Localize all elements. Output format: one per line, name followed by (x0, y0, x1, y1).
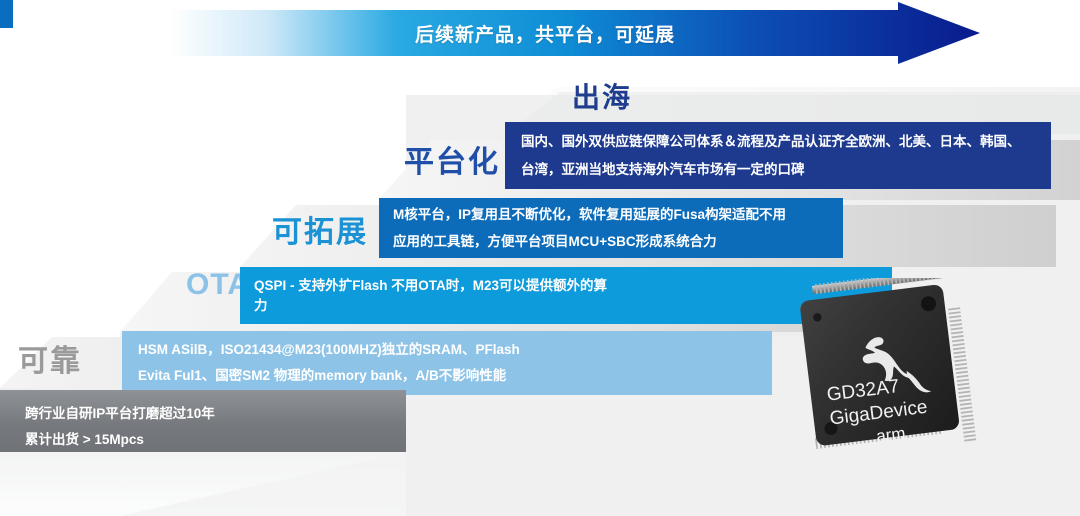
accent-bar (0, 0, 13, 28)
step-content-line: QSPI - 支持外扩Flash 不用OTA时，M23可以提供额外的算 (254, 276, 878, 296)
step-content-line: M核平台，IP复用且不断优化，软件复用延展的Fusa构架适配不用 (393, 201, 829, 228)
step-label-overseas: 出海 (572, 76, 632, 116)
step-content-line: 力 (254, 296, 878, 316)
step-content-platformization: 国内、国外双供应链保障公司体系＆流程及产品认证齐全欧洲、北美、日本、韩国、 台湾… (505, 122, 1051, 189)
step-content-line: 应用的工具链，方便平台项目MCU+SBC形成系统合力 (393, 228, 829, 255)
base-summary-panel: 跨行业自研IP平台打磨超过10年 累计出货 > 15Mpcs (0, 390, 406, 452)
step-label-platformization: 平台化 (404, 137, 500, 181)
chip-image: GD32A7 GigaDevice arm (786, 278, 1026, 493)
slide-canvas: 后续新产品，共平台，可延展 (0, 0, 1080, 516)
step-content-extensible: M核平台，IP复用且不断优化，软件复用延展的Fusa构架适配不用 应用的工具链，… (379, 198, 843, 258)
base-summary-line: 累计出货 > 15Mpcs (25, 427, 406, 453)
step-content-line: HSM ASilB，ISO21434@M23(100MHZ)独立的SRAM、PF… (138, 337, 756, 363)
chip-arch-text: arm (875, 424, 906, 446)
step-label-extensible: 可拓展 (272, 207, 368, 251)
step-label-reliable: 可靠 (18, 336, 82, 380)
step-content-line: 台湾，亚洲当地支持海外汽车市场有一定的口碑 (521, 156, 1035, 184)
base-summary-line: 跨行业自研IP平台打磨超过10年 (25, 401, 406, 427)
step-content-reliable: HSM ASilB，ISO21434@M23(100MHZ)独立的SRAM、PF… (122, 331, 772, 395)
step-content-line: Evita Ful1、国密SM2 物理的memory bank，A/B不影响性能 (138, 363, 756, 389)
step-content-line: 国内、国外双供应链保障公司体系＆流程及产品认证齐全欧洲、北美、日本、韩国、 (521, 128, 1035, 156)
header-arrow-text: 后续新产品，共平台，可延展 (170, 2, 980, 64)
